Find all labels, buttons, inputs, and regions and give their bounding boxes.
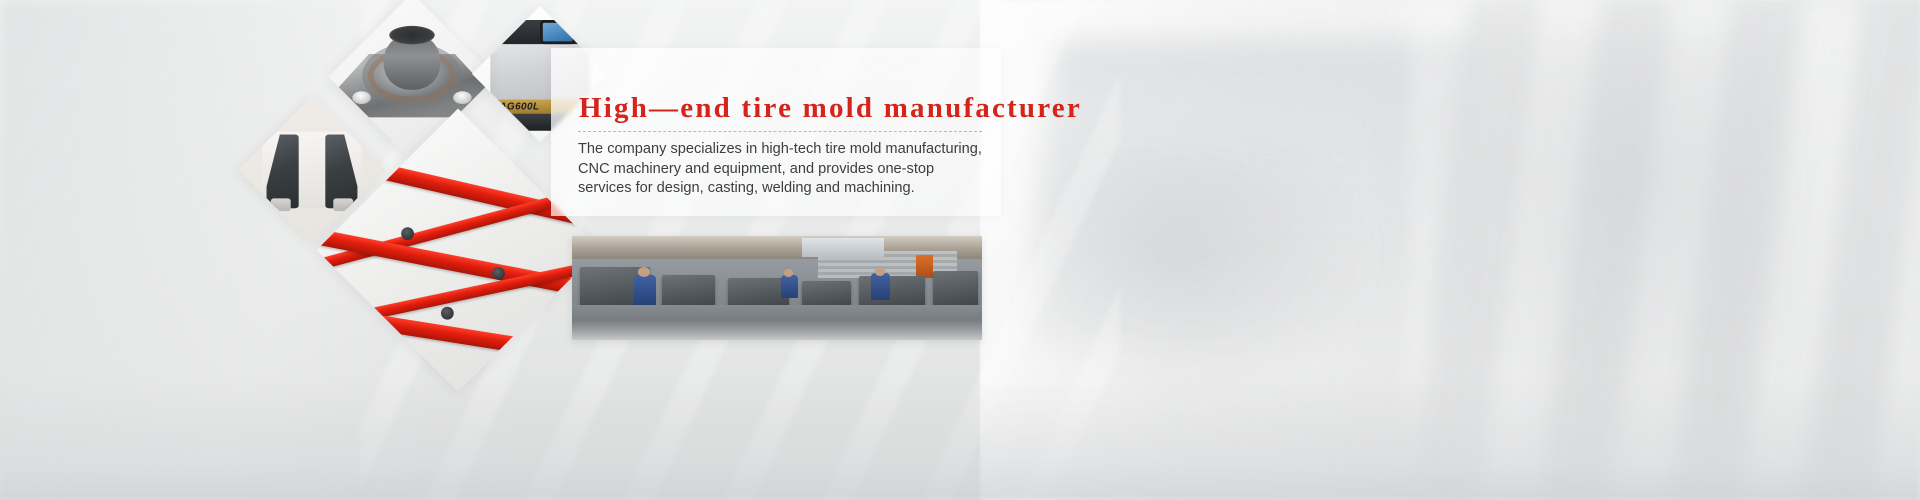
flange-bolt-hole-left xyxy=(352,92,370,105)
page-title: High—end tire mold manufacturer xyxy=(579,92,1082,125)
company-description: The company specializes in high-tech tir… xyxy=(578,140,990,199)
scissor-pivot-pin xyxy=(492,267,505,280)
red-bar xyxy=(322,307,599,369)
bracket-foot-left xyxy=(271,198,292,211)
scissor-pivot-pin xyxy=(441,307,454,320)
photo-bottom-fade xyxy=(572,320,982,340)
flange-bolt-hole-right xyxy=(453,92,471,105)
bracket-foot-right xyxy=(333,198,354,211)
title-divider xyxy=(578,131,982,132)
factory-workshop-photo xyxy=(572,236,982,340)
product-collage: AG600L xyxy=(120,0,560,430)
hero-banner: AG600L High—end tire mold manufacturer T… xyxy=(0,0,1920,500)
scissor-pivot-pin xyxy=(401,227,414,240)
flange-tube xyxy=(384,33,441,90)
